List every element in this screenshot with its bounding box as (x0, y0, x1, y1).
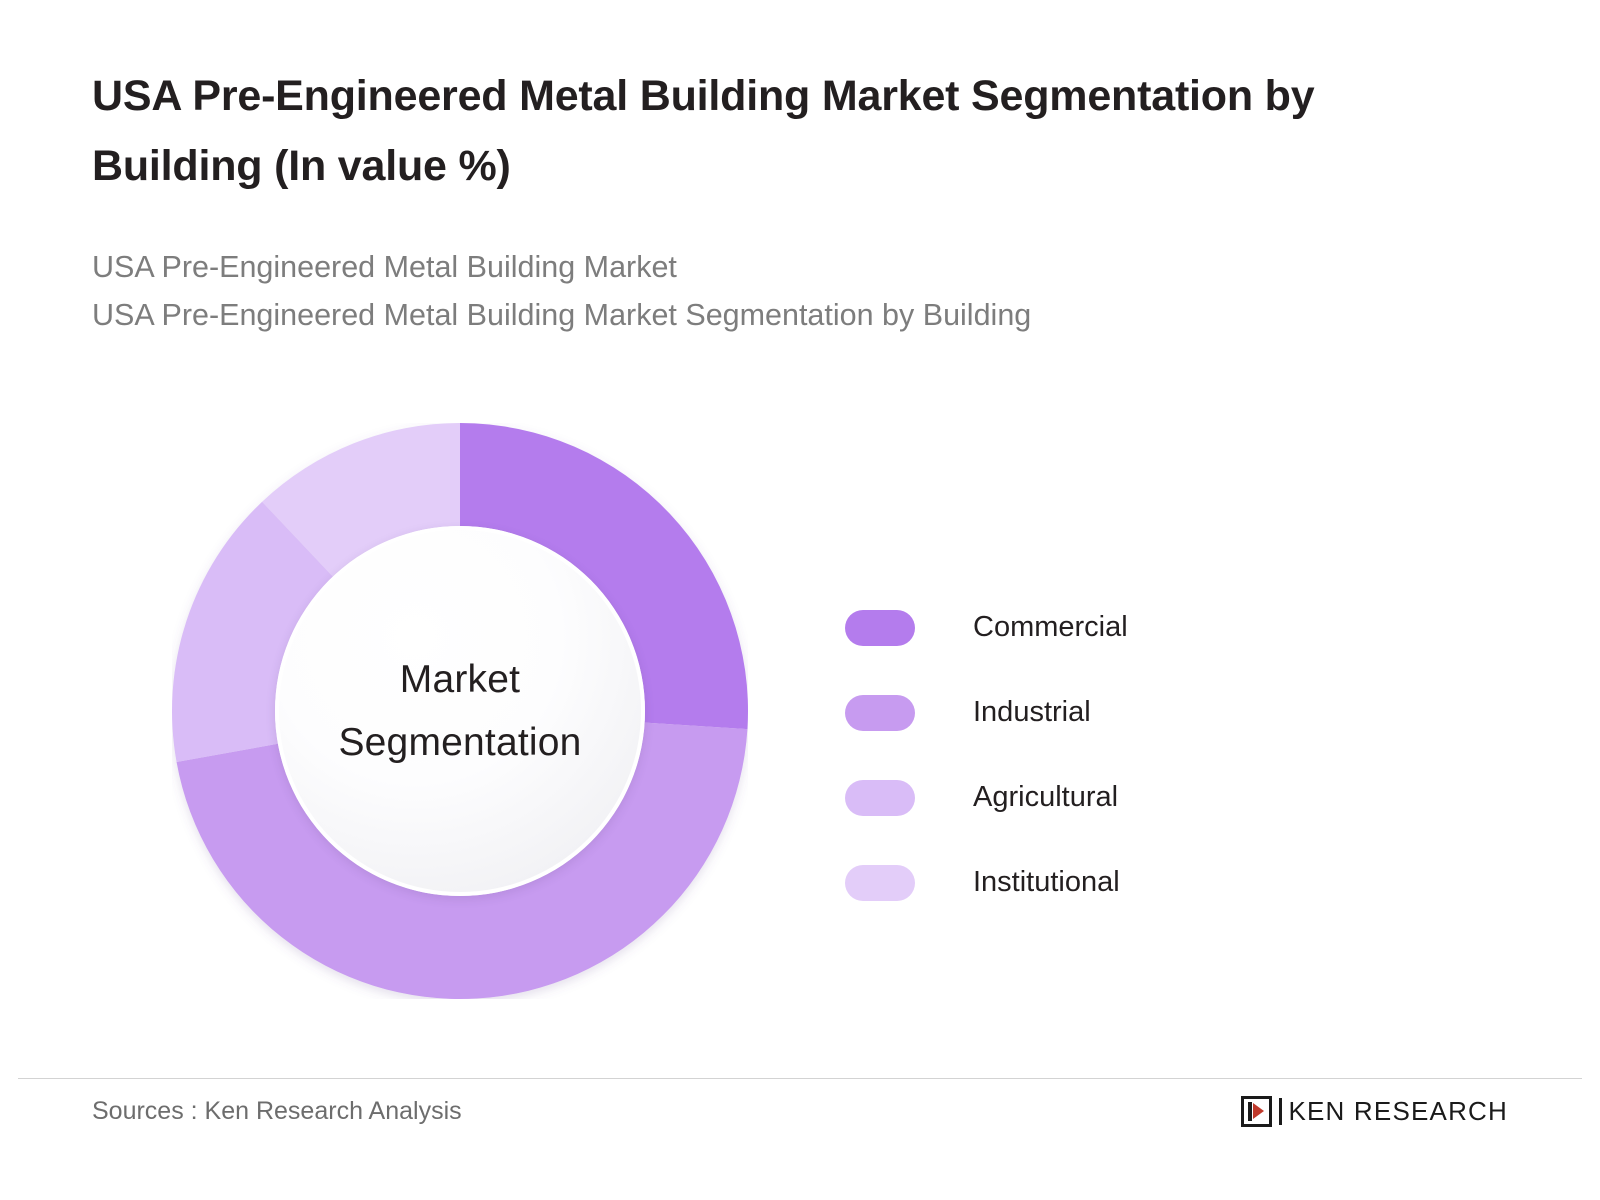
legend-label: Institutional (973, 866, 1120, 899)
ken-research-logo: KEN RESEARCH (1241, 1094, 1508, 1128)
logo-divider (1279, 1098, 1282, 1125)
subtitle-block: USA Pre-Engineered Metal Building Market… (92, 244, 1492, 339)
legend-label: Agricultural (973, 781, 1118, 814)
legend-swatch-icon (845, 695, 915, 731)
donut-center-label: Market Segmentation (275, 526, 645, 896)
legend-item-commercial[interactable]: Commercial (845, 585, 1275, 670)
legend-swatch-icon (845, 610, 915, 646)
logo-k-stem (1248, 1102, 1252, 1121)
legend-swatch-icon (845, 780, 915, 816)
legend-label: Industrial (973, 696, 1091, 729)
chart-area: Market Segmentation CommercialIndustrial… (0, 400, 1600, 1040)
sources-note: Sources : Ken Research Analysis (92, 1097, 462, 1126)
subtitle-line-1: USA Pre-Engineered Metal Building Market (92, 244, 1492, 292)
logo-triangle-icon (1253, 1103, 1264, 1119)
footer-divider (18, 1078, 1582, 1079)
legend-item-institutional[interactable]: Institutional (845, 840, 1275, 925)
logo-k-mark-icon (1241, 1096, 1272, 1127)
legend-item-agricultural[interactable]: Agricultural (845, 755, 1275, 840)
donut-chart: Market Segmentation (172, 423, 748, 999)
chart-legend: CommercialIndustrialAgriculturalInstitut… (845, 585, 1275, 925)
legend-item-industrial[interactable]: Industrial (845, 670, 1275, 755)
subtitle-line-2: USA Pre-Engineered Metal Building Market… (92, 292, 1492, 340)
legend-label: Commercial (973, 611, 1128, 644)
page-title: USA Pre-Engineered Metal Building Market… (92, 62, 1492, 201)
header: USA Pre-Engineered Metal Building Market… (92, 62, 1492, 339)
logo-wordmark: KEN RESEARCH (1288, 1096, 1508, 1127)
slide-canvas: USA Pre-Engineered Metal Building Market… (0, 0, 1600, 1200)
donut-center-line-2: Segmentation (338, 711, 581, 774)
legend-swatch-icon (845, 865, 915, 901)
donut-center-line-1: Market (400, 648, 520, 711)
